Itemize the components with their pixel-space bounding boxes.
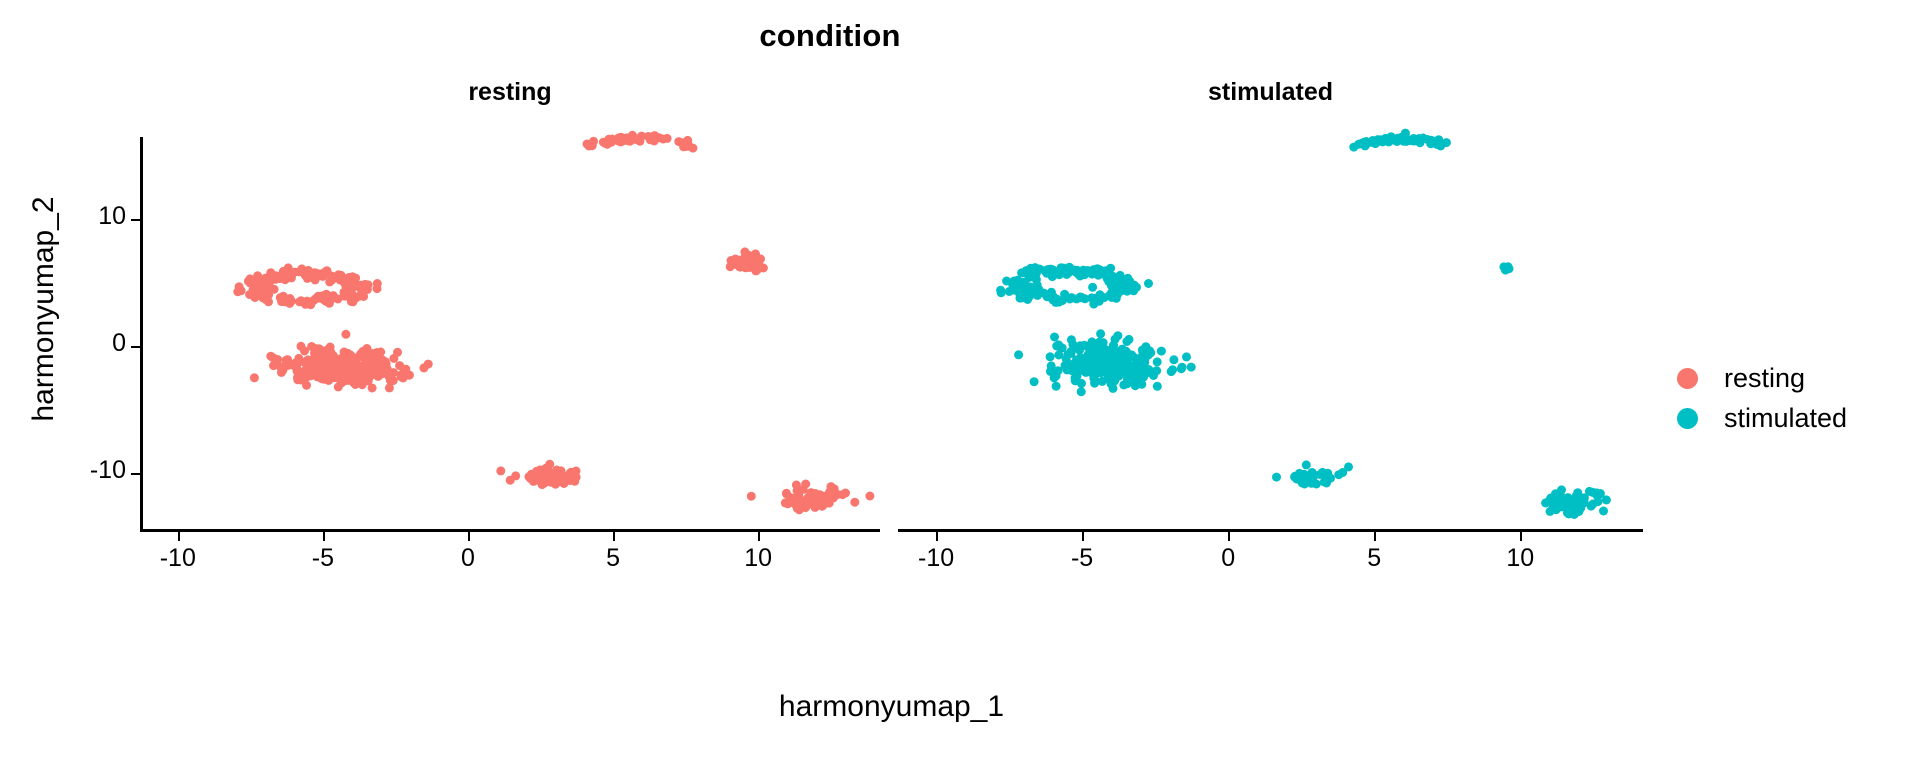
page-title: condition: [0, 18, 1660, 54]
y-tick-0: [131, 219, 140, 221]
x-tick-resting-3: [613, 532, 615, 541]
x-tick-resting-1: [323, 532, 325, 541]
x-tick-stimulated-4: [1520, 532, 1522, 541]
x-tick-label-stimulated-1: -5: [1047, 544, 1117, 573]
y-axis-title: harmonyumap_2: [27, 99, 61, 519]
legend-dot-icon: [1677, 408, 1698, 429]
x-tick-label-resting-3: 5: [578, 544, 648, 573]
x-tick-stimulated-0: [936, 532, 938, 541]
y-tick-1: [131, 346, 140, 348]
x-tick-resting-0: [178, 532, 180, 541]
x-axis-line-stimulated: [898, 529, 1643, 532]
y-tick-2: [131, 473, 140, 475]
legend-label-stimulated: stimulated: [1724, 403, 1847, 434]
y-axis-line: [140, 137, 143, 530]
y-tick-label-2: -10: [0, 456, 126, 485]
legend-item-resting[interactable]: resting: [1672, 358, 1847, 398]
x-tick-resting-4: [758, 532, 760, 541]
legend-dot-icon: [1677, 368, 1698, 389]
legend-key-resting: [1672, 368, 1702, 389]
x-tick-label-resting-0: -10: [143, 544, 213, 573]
x-tick-label-resting-4: 10: [723, 544, 793, 573]
legend-label-resting: resting: [1724, 363, 1805, 394]
facet-strip-resting: resting: [140, 78, 880, 107]
x-tick-stimulated-3: [1374, 532, 1376, 541]
scatter-points-stimulated: [901, 110, 1643, 530]
x-tick-label-stimulated-0: -10: [901, 544, 971, 573]
x-tick-stimulated-1: [1082, 532, 1084, 541]
y-tick-label-0: 10: [0, 202, 126, 231]
x-tick-stimulated-2: [1228, 532, 1230, 541]
x-tick-label-resting-2: 0: [433, 544, 503, 573]
x-tick-label-stimulated-4: 10: [1485, 544, 1555, 573]
y-tick-label-1: 0: [0, 329, 126, 358]
x-tick-label-resting-1: -5: [288, 544, 358, 573]
legend: resting stimulated: [1672, 358, 1847, 438]
x-tick-label-stimulated-3: 5: [1339, 544, 1409, 573]
x-axis-line-resting: [140, 529, 880, 532]
facet-strip-stimulated: stimulated: [898, 78, 1643, 107]
scatter-panel-resting: [143, 110, 880, 530]
x-axis-title: harmonyumap_1: [140, 690, 1643, 724]
scatter-points-resting: [143, 110, 880, 530]
scatter-panel-stimulated: [901, 110, 1643, 530]
chart-root: condition resting stimulated -10-50510-1…: [0, 0, 1920, 768]
legend-key-stimulated: [1672, 408, 1702, 429]
x-tick-resting-2: [468, 532, 470, 541]
x-tick-label-stimulated-2: 0: [1193, 544, 1263, 573]
legend-item-stimulated[interactable]: stimulated: [1672, 398, 1847, 438]
